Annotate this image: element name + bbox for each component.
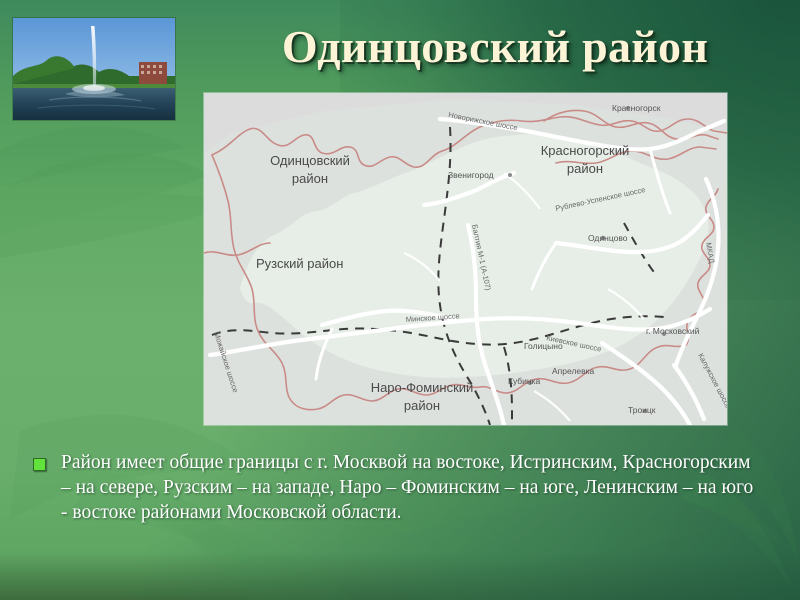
map-city-label: Звенигород — [448, 170, 494, 180]
bullet-square-icon — [33, 458, 46, 471]
map-district-label: район — [404, 398, 440, 413]
map-district-label: район — [292, 171, 328, 186]
map-city-label: Красногорск — [612, 103, 661, 113]
map-district-label: Рузский район — [256, 256, 343, 271]
map-district-label: район — [567, 161, 603, 176]
body-paragraph: Район имеет общие границы с г. Москвой н… — [61, 450, 763, 525]
bullet-paragraph-block: Район имеет общие границы с г. Москвой н… — [33, 450, 763, 525]
fountain-pond-photo — [13, 18, 175, 120]
map-city-label: Апрелевка — [552, 366, 595, 376]
district-map: Одинцовский район Красногорский район Ру… — [204, 93, 727, 425]
map-city-label: Троицк — [628, 405, 656, 415]
map-district-label: Красногорский — [541, 143, 630, 158]
slide-title: Одинцовский район — [215, 22, 775, 72]
map-district-label: Одинцовский — [270, 153, 350, 168]
map-city-label: Кубинка — [508, 376, 541, 386]
map-city-label: Одинцово — [588, 233, 628, 243]
map-city-label: г. Московский — [646, 326, 700, 336]
presentation-slide: Одинцовский район — [0, 0, 800, 600]
map-district-label: Наро-Фоминский — [371, 380, 474, 395]
